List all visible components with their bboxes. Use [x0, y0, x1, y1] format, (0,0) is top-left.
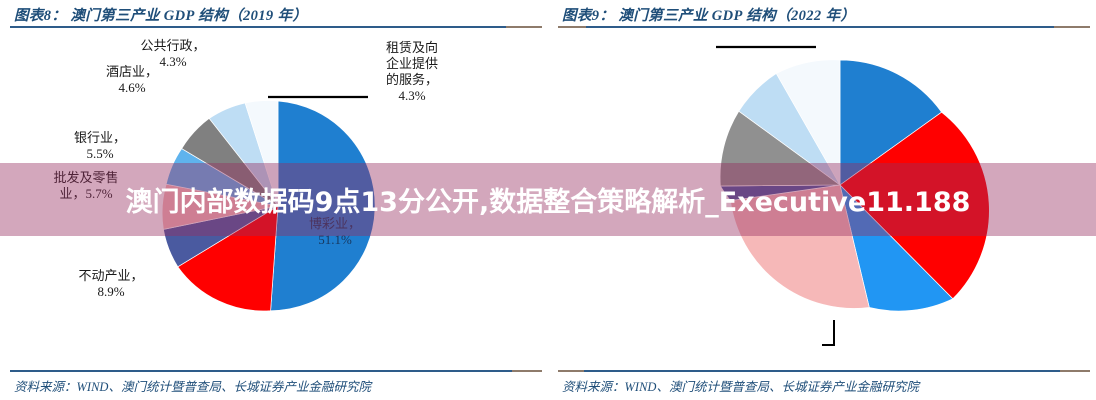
source-text-left: 资料来源：WIND、澳门统计暨普查局、长城证券产业金融研究院: [14, 376, 540, 395]
pie-label-hotel: 酒店业， 4.6%: [84, 64, 180, 96]
figure-panel-right: 图表9： 澳门第三产业 GDP 结构（2022 年）: [548, 0, 1096, 400]
figure-page: 图表8： 澳门第三产业 GDP 结构（2019 年）: [0, 0, 1096, 400]
source-text-right: 资料来源：WIND、澳门统计暨普查局、长城证券产业金融研究院: [562, 376, 1088, 395]
pie-chart-2022: 租赁及向企 业提供的服 务，5.3% 公共行政， 10.3% 酒店业， 1.8%…: [548, 0, 1096, 400]
slice-gaming: [271, 101, 375, 311]
source-divider-left: [10, 370, 542, 372]
source-divider-right: [558, 370, 1090, 372]
figure-panel-left: 图表8： 澳门第三产业 GDP 结构（2019 年）: [0, 0, 548, 400]
pie-svg-2022: [548, 0, 1096, 400]
leader-line-wholesale: [822, 320, 834, 345]
pie-label-banking: 银行业， 5.5%: [52, 130, 148, 162]
pie-label-realestate: 不动产业， 8.9%: [56, 268, 166, 300]
pie-label-leasing: 租赁及向 企业提供 的服务， 4.3%: [366, 40, 458, 104]
pie-chart-2019: 公共行政， 4.3% 酒店业， 4.6% 银行业， 5.5% 批发及零售 业，5…: [0, 0, 548, 400]
pie-label-wholesale: 批发及零售 业，5.7%: [36, 170, 136, 202]
pie-label-gaming: 博彩业， 51.1%: [286, 216, 384, 248]
